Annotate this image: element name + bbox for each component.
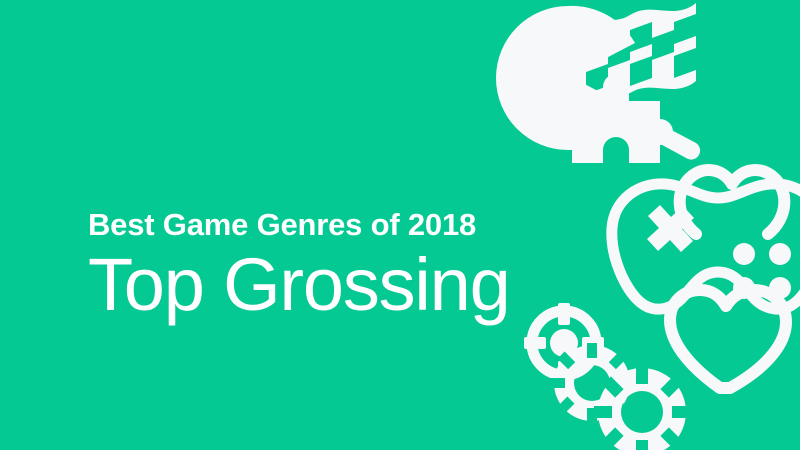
checkered-flag-icon xyxy=(515,3,700,160)
gamepad-icon xyxy=(612,184,800,309)
heart-outline-secondary-icon xyxy=(680,170,785,234)
page-title: Top Grossing xyxy=(88,246,558,324)
poker-chip-back-icon xyxy=(550,343,630,423)
heart-outline-icon xyxy=(670,290,786,388)
title-slide: Best Game Genres of 2018 Top Grossing xyxy=(0,0,800,450)
title-text-block: Best Game Genres of 2018 Top Grossing xyxy=(88,208,558,324)
puzzle-piece-icon xyxy=(559,74,673,163)
eyebrow-text: Best Game Genres of 2018 xyxy=(88,208,558,242)
pacman-icon xyxy=(496,6,635,150)
poker-chip-front-icon xyxy=(594,366,690,450)
